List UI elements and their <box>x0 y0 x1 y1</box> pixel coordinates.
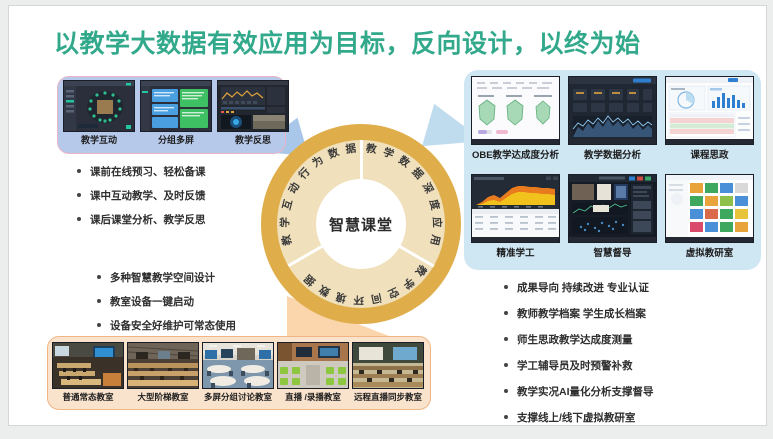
bullet-text: 师生思政教学达成度测量 <box>517 332 633 347</box>
screenshot-precise-student-affairs <box>471 174 560 243</box>
bullet-dot-icon <box>97 299 101 303</box>
photo-normal-classroom <box>52 342 124 389</box>
screenshot-virtual-teaching-research-room <box>665 174 754 243</box>
thumbnail-item[interactable]: 虚拟教研室 <box>665 174 754 259</box>
bullet-item: 学工辅导员及时预警补救 <box>504 358 654 373</box>
bullet-dot-icon <box>504 285 508 289</box>
thumbnail-group-interaction: 教学互动 <box>63 80 289 146</box>
bullet-text: 多种智慧教学空间设计 <box>110 270 215 285</box>
bullet-text: 设备安全好维护可常态使用 <box>110 318 236 333</box>
screenshot-teaching-interaction <box>63 80 135 132</box>
bullet-dot-icon <box>97 275 101 279</box>
screenshot-teaching-data-analysis <box>568 76 657 145</box>
bullet-item: 课前在线预习、轻松备课 <box>77 164 206 179</box>
thumbnail-group-analytics-row1: OBE教学达成度分析 <box>471 76 754 161</box>
bullet-dot-icon <box>97 323 101 327</box>
bullet-item: 师生思政教学达成度测量 <box>504 332 654 347</box>
bullet-dot-icon <box>504 311 508 315</box>
thumbnail-item[interactable]: 直播 /录播教室 <box>277 342 349 403</box>
thumbnail-caption: 教学反思 <box>235 133 271 146</box>
thumbnail-group-classrooms: 普通常态教室 <box>52 342 424 403</box>
bullet-dot-icon <box>504 363 508 367</box>
bullet-dot-icon <box>504 389 508 393</box>
screenshot-teaching-reflection <box>217 80 289 132</box>
screenshot-obe-achievement-analysis <box>471 76 560 145</box>
thumbnail-item[interactable]: 课程思政 <box>665 76 754 161</box>
page-title: 以教学大数据有效应用为目标，反向设计，以终为始 <box>54 24 641 60</box>
thumbnail-item[interactable]: OBE教学达成度分析 <box>471 76 560 161</box>
screenshot-smart-supervision <box>568 174 657 243</box>
bullet-text: 教师教学档案 学生成长档案 <box>517 306 646 321</box>
bullet-item: 成果导向 持续改进 专业认证 <box>504 280 654 295</box>
thumbnail-caption: 普通常态教室 <box>62 391 113 403</box>
bullet-item: 多种智慧教学空间设计 <box>97 270 236 285</box>
bullet-text: 课前在线预习、轻松备课 <box>90 164 206 179</box>
thumbnail-caption: 直播 /录播教室 <box>285 391 341 403</box>
thumbnail-caption: 分组多屏 <box>158 133 194 146</box>
bullet-text: 成果导向 持续改进 专业认证 <box>517 280 649 295</box>
bullet-item: 教室设备一键启动 <box>97 294 236 309</box>
bullet-dot-icon <box>504 415 508 419</box>
bullet-text: 课后课堂分析、教学反思 <box>90 212 206 227</box>
thumbnail-item[interactable]: 普通常态教室 <box>52 342 124 403</box>
bullet-text: 教学实况AI量化分析支撑督导 <box>517 384 654 399</box>
thumbnail-item[interactable]: 教学数据分析 <box>568 76 657 161</box>
thumbnail-caption: 大型阶梯教室 <box>137 391 188 403</box>
thumbnail-item[interactable]: 智慧督导 <box>568 174 657 259</box>
thumbnail-caption: OBE教学达成度分析 <box>472 147 559 161</box>
photo-multiscreen-discussion-room <box>202 342 274 389</box>
thumbnail-caption: 虚拟教研室 <box>686 245 734 259</box>
photo-live-recording-room <box>277 342 349 389</box>
thumbnail-item[interactable]: 教学互动 <box>63 80 135 146</box>
thumbnail-caption: 精准学工 <box>496 245 534 259</box>
donut-divider <box>360 140 363 180</box>
photo-remote-sync-classroom <box>352 342 424 389</box>
bullet-item: 设备安全好维护可常态使用 <box>97 318 236 333</box>
bullet-item: 教学实况AI量化分析支撑督导 <box>504 384 654 399</box>
slide-canvas: 以教学大数据有效应用为目标，反向设计，以终为始 <box>8 5 767 426</box>
donut-diagram-smart-classroom: 教学互动行为数据 教学数据深度应用 教学空间环境数据 智慧课堂 <box>261 124 461 324</box>
bullet-item: 课后课堂分析、教学反思 <box>77 212 206 227</box>
bullet-text: 支撑线上/线下虚拟教研室 <box>517 410 635 425</box>
thumbnail-caption: 课程思政 <box>690 147 728 161</box>
screenshot-ideological-course <box>665 76 754 145</box>
thumbnail-caption: 智慧督导 <box>593 245 631 259</box>
thumbnail-group-analytics-row2: 精准学工 <box>471 174 754 259</box>
bullet-list-data-application: 成果导向 持续改进 专业认证 教师教学档案 学生成长档案 师生思政教学达成度测量… <box>504 280 654 426</box>
bullet-dot-icon <box>504 337 508 341</box>
thumbnail-item[interactable]: 教学反思 <box>217 80 289 146</box>
thumbnail-caption: 教学互动 <box>81 133 117 146</box>
bullet-dot-icon <box>77 217 81 221</box>
bullet-dot-icon <box>77 169 81 173</box>
bullet-dot-icon <box>77 193 81 197</box>
thumbnail-item[interactable]: 分组多屏 <box>140 80 212 146</box>
thumbnail-item[interactable]: 精准学工 <box>471 174 560 259</box>
thumbnail-item[interactable]: 远程直播同步教室 <box>352 342 424 403</box>
donut-center-label: 智慧课堂 <box>329 214 393 235</box>
bullet-text: 学工辅导员及时预警补救 <box>517 358 633 373</box>
bullet-item: 教师教学档案 学生成长档案 <box>504 306 654 321</box>
bullet-text: 教室设备一键启动 <box>110 294 194 309</box>
screenshot-group-multiscreen <box>140 80 212 132</box>
donut-center: 智慧课堂 <box>316 179 406 269</box>
thumbnail-item[interactable]: 大型阶梯教室 <box>127 342 199 403</box>
thumbnail-caption: 远程直播同步教室 <box>354 391 422 403</box>
thumbnail-item[interactable]: 多屏分组讨论教室 <box>202 342 274 403</box>
thumbnail-caption: 教学数据分析 <box>584 147 641 161</box>
bullet-list-space-environment: 多种智慧教学空间设计 教室设备一键启动 设备安全好维护可常态使用 <box>97 270 236 342</box>
bullet-list-interaction: 课前在线预习、轻松备课 课中互动教学、及时反馈 课后课堂分析、教学反思 <box>77 164 206 236</box>
bullet-item: 支撑线上/线下虚拟教研室 <box>504 410 654 425</box>
bullet-item: 课中互动教学、及时反馈 <box>77 188 206 203</box>
thumbnail-caption: 多屏分组讨论教室 <box>204 391 272 403</box>
bullet-text: 课中互动教学、及时反馈 <box>90 188 206 203</box>
photo-lecture-hall <box>127 342 199 389</box>
